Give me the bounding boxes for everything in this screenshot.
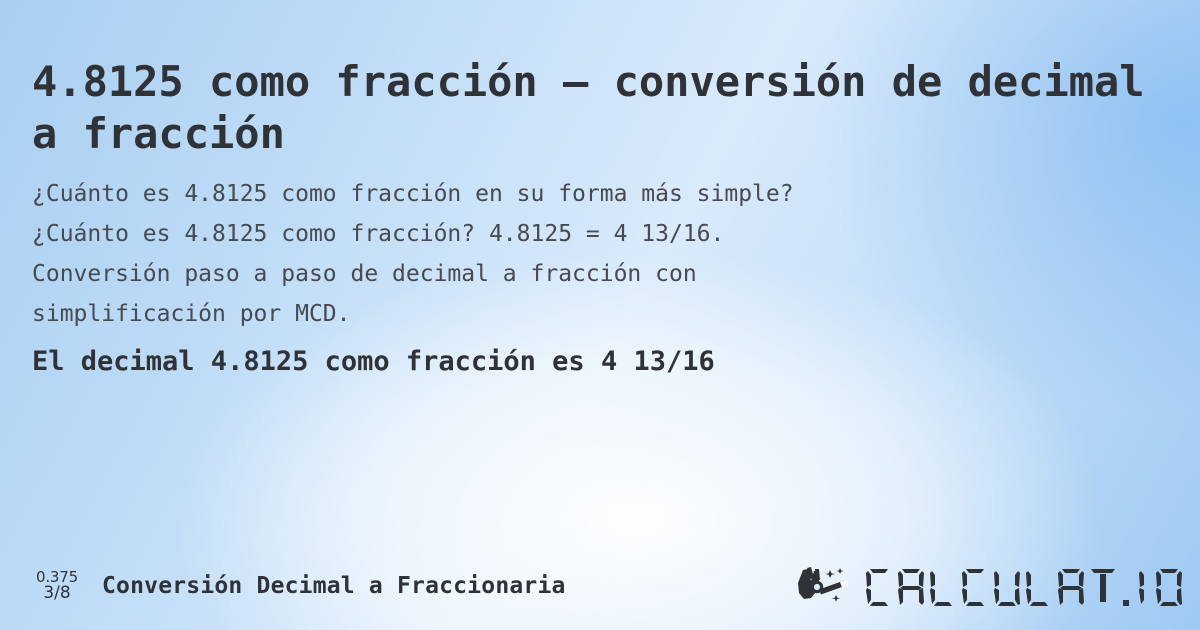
- footer-brand-label: Conversión Decimal a Fraccionaria: [102, 573, 566, 599]
- lcd-letter-i: [1138, 568, 1150, 606]
- fraction-logo-fraction: 3/8: [26, 585, 88, 602]
- description-block: ¿Cuánto es 4.8125 como fracción en su fo…: [32, 174, 1162, 334]
- lcd-letter-l: [929, 568, 956, 606]
- lcd-letter-o: [1155, 568, 1182, 606]
- description-line-1: ¿Cuánto es 4.8125 como fracción en su fo…: [32, 174, 1162, 214]
- lcd-letter-c-2: [961, 568, 988, 606]
- description-line-2: ¿Cuánto es 4.8125 como fracción? 4.8125 …: [32, 214, 1162, 254]
- lcd-letter-a-2: [1057, 568, 1084, 606]
- lcd-letter-l-2: [1025, 568, 1052, 606]
- share-card: 4.8125 como fracción – conversión de dec…: [0, 0, 1200, 630]
- lcd-period: [1121, 568, 1133, 606]
- lcd-letter-t: [1089, 568, 1116, 606]
- lcd-letter-a: [897, 568, 924, 606]
- description-line-3: Conversión paso a paso de decimal a frac…: [32, 254, 1162, 294]
- calculatio-wordmark: [865, 566, 1182, 606]
- answer-statement: El decimal 4.8125 como fracción es 4 13/…: [32, 344, 715, 380]
- site-logo[interactable]: [795, 562, 1182, 610]
- magic-wand-hand-icon: [795, 565, 857, 607]
- lcd-letter-c: [865, 568, 892, 606]
- fraction-logo-icon: 0.375 3/8: [26, 570, 88, 603]
- description-line-4: simplificación por MCD.: [32, 294, 1162, 334]
- page-title: 4.8125 como fracción – conversión de dec…: [32, 56, 1152, 160]
- footer-brand-left: 0.375 3/8 Conversión Decimal a Fracciona…: [26, 560, 566, 612]
- lcd-letter-u: [993, 568, 1020, 606]
- footer: 0.375 3/8 Conversión Decimal a Fracciona…: [0, 560, 1200, 612]
